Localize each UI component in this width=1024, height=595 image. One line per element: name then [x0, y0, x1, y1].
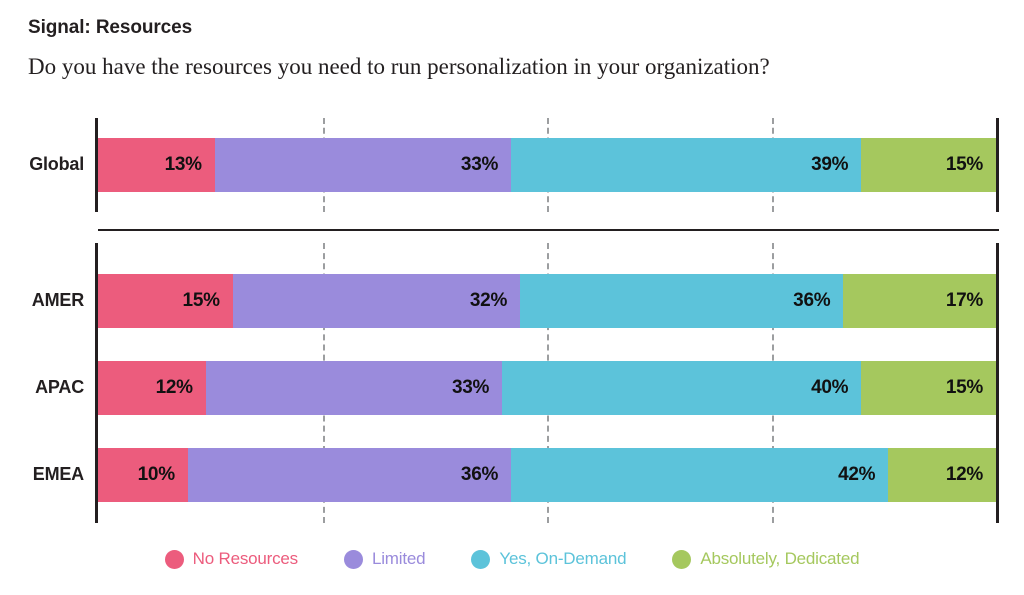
- bar-segment[interactable]: 15%: [861, 361, 996, 415]
- bar-segment[interactable]: 36%: [188, 448, 511, 502]
- bar-segment[interactable]: 32%: [233, 274, 520, 328]
- signal-resources-chart: Signal: Resources Do you have the resour…: [0, 0, 1024, 595]
- bar-segment[interactable]: 10%: [98, 448, 188, 502]
- bar-segment[interactable]: 39%: [511, 138, 861, 192]
- row-label-emea: EMEA: [0, 464, 84, 485]
- bar-segment[interactable]: 15%: [98, 274, 233, 328]
- bar-segment[interactable]: 33%: [215, 138, 511, 192]
- bar-row: 15%32%36%17%: [98, 274, 996, 328]
- bar-segment-value: 12%: [156, 377, 206, 399]
- bar-segment[interactable]: 17%: [843, 274, 996, 328]
- legend-label: Absolutely, Dedicated: [700, 549, 859, 569]
- bar-segment-value: 40%: [811, 377, 861, 399]
- row-label-global: Global: [0, 154, 84, 175]
- row-label-amer: AMER: [0, 290, 84, 311]
- legend-label: Limited: [372, 549, 425, 569]
- legend-swatch-icon: [165, 550, 184, 569]
- bar-segment-value: 36%: [793, 290, 843, 312]
- bar-segment-value: 33%: [461, 154, 511, 176]
- bar-segment-value: 12%: [946, 464, 996, 486]
- bar-segment-value: 15%: [946, 154, 996, 176]
- group-divider: [98, 229, 999, 231]
- bar-segment-value: 10%: [138, 464, 188, 486]
- bar-row: 10%36%42%12%: [98, 448, 996, 502]
- bar-segment-value: 32%: [470, 290, 520, 312]
- plot-right-border: [996, 118, 999, 212]
- legend-swatch-icon: [672, 550, 691, 569]
- bar-segment-value: 15%: [946, 377, 996, 399]
- chart-legend: No ResourcesLimitedYes, On-DemandAbsolut…: [0, 543, 1024, 575]
- bar-row: 12%33%40%15%: [98, 361, 996, 415]
- legend-label: Yes, On-Demand: [499, 549, 626, 569]
- bar-segment[interactable]: 40%: [502, 361, 861, 415]
- bar-segment[interactable]: 15%: [861, 138, 996, 192]
- legend-item[interactable]: Limited: [344, 549, 425, 569]
- legend-item[interactable]: Absolutely, Dedicated: [672, 549, 859, 569]
- bar-segment-value: 33%: [452, 377, 502, 399]
- plot-right-border: [996, 243, 999, 523]
- row-label-apac: APAC: [0, 377, 84, 398]
- bar-segment[interactable]: 33%: [206, 361, 502, 415]
- bar-segment[interactable]: 12%: [98, 361, 206, 415]
- bar-segment-value: 36%: [461, 464, 511, 486]
- bar-segment-value: 15%: [183, 290, 233, 312]
- bar-segment-value: 39%: [811, 154, 861, 176]
- legend-item[interactable]: Yes, On-Demand: [471, 549, 626, 569]
- bar-row: 13%33%39%15%: [98, 138, 996, 192]
- legend-swatch-icon: [471, 550, 490, 569]
- bar-segment-value: 42%: [838, 464, 888, 486]
- bar-segment[interactable]: 42%: [511, 448, 888, 502]
- bar-segment[interactable]: 13%: [98, 138, 215, 192]
- legend-item[interactable]: No Resources: [165, 549, 298, 569]
- legend-swatch-icon: [344, 550, 363, 569]
- legend-label: No Resources: [193, 549, 298, 569]
- bar-segment-value: 13%: [165, 154, 215, 176]
- bar-segment-value: 17%: [946, 290, 996, 312]
- bar-segment[interactable]: 36%: [520, 274, 843, 328]
- bar-segment[interactable]: 12%: [888, 448, 996, 502]
- chart-plot-area: Global13%33%39%15%AMER15%32%36%17%APAC12…: [0, 0, 1024, 595]
